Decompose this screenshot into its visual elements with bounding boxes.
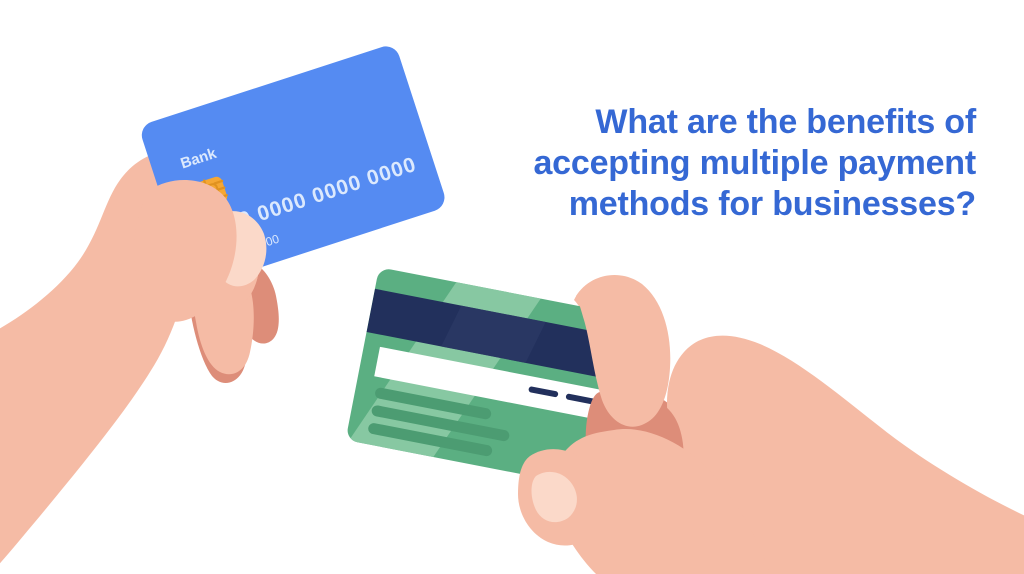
page-title: What are the benefits of accepting multi… bbox=[456, 102, 976, 224]
payment-cards-illustration: Bank 0000 0000 0000 0000 00/00 bbox=[0, 0, 1024, 574]
illustration-canvas: Bank 0000 0000 0000 0000 00/00 bbox=[0, 0, 1024, 574]
